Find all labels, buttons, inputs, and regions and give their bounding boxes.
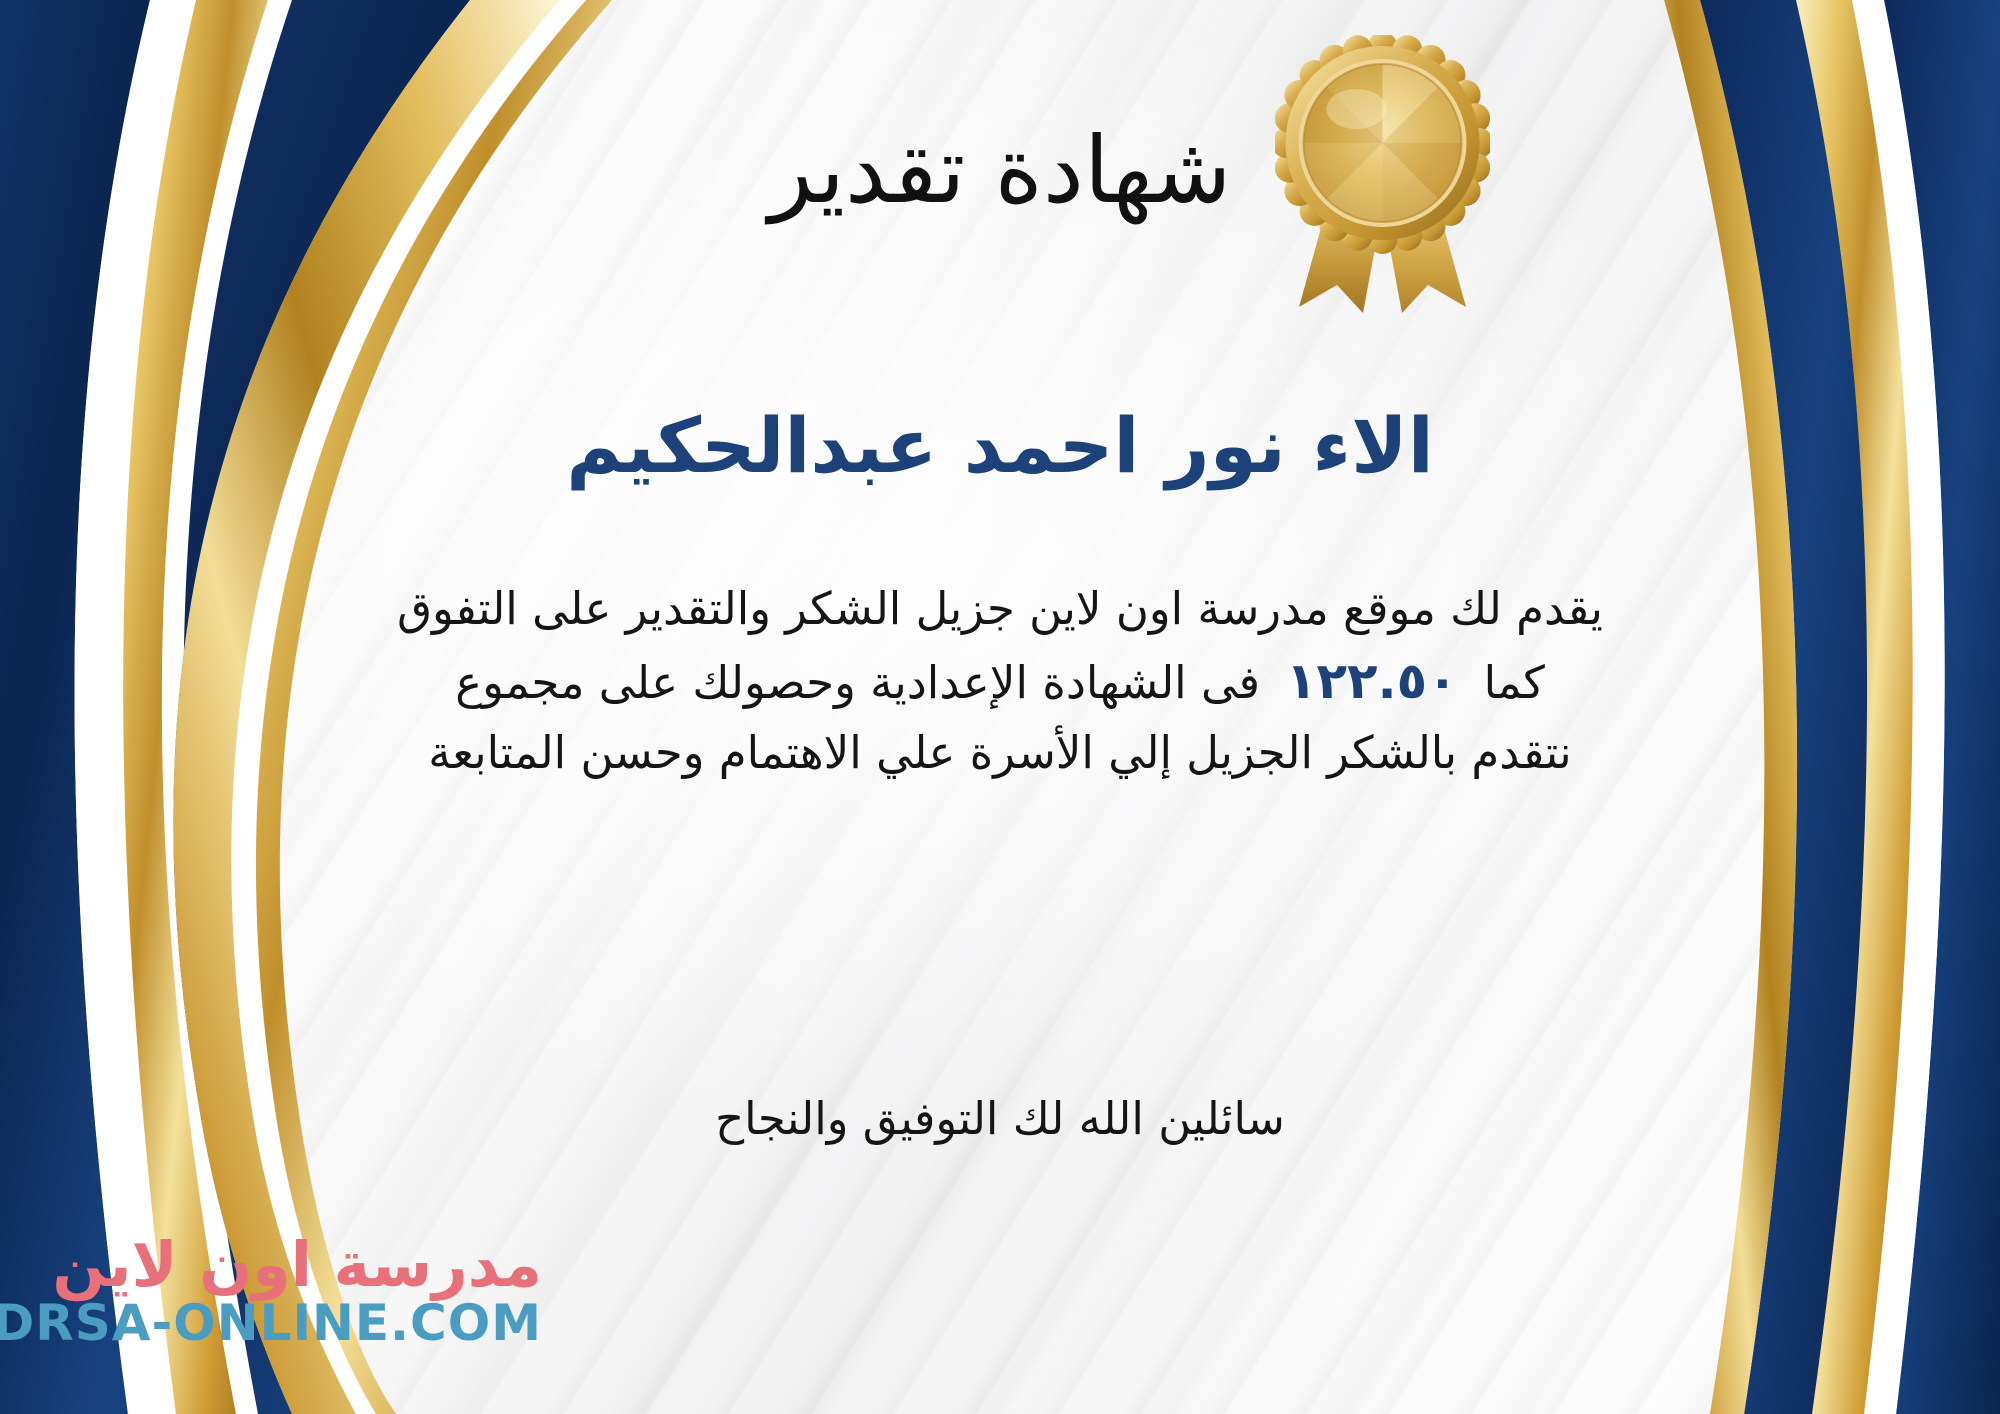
- closing-line: سائلين الله لك التوفيق والنجاح: [0, 1085, 2000, 1153]
- grade-line-after: فى الشهادة الإعدادية وحصولك على مجموع: [455, 656, 1260, 709]
- grade-line-before: كما: [1484, 656, 1545, 709]
- brand-logo: مدرسة اون لاين MADRSA-ONLINE.COM: [22, 1232, 542, 1372]
- certificate-title: شهادة تقدير: [0, 118, 2000, 224]
- body-line-grade: كما١٢٢.٥٠فى الشهادة الإعدادية وحصولك على…: [40, 643, 1960, 719]
- brand-website: MADRSA-ONLINE.COM: [0, 1297, 542, 1350]
- brand-arabic-name: مدرسة اون لاين: [0, 1232, 542, 1297]
- grade-value: ١٢٢.٥٠: [1260, 643, 1484, 719]
- recipient-name: الاء نور احمد عبدالحكيم: [0, 400, 2000, 491]
- body-line-1: يقدم لك موقع مدرسة اون لاين جزيل الشكر و…: [40, 575, 1960, 643]
- body-line-2: نتقدم بالشكر الجزيل إلي الأسرة علي الاهت…: [40, 719, 1960, 787]
- certificate-body: يقدم لك موقع مدرسة اون لاين جزيل الشكر و…: [40, 575, 1960, 788]
- certificate-canvas: شهادة تقدير الاء نور احمد عبدالحكيم يقدم…: [0, 0, 2000, 1414]
